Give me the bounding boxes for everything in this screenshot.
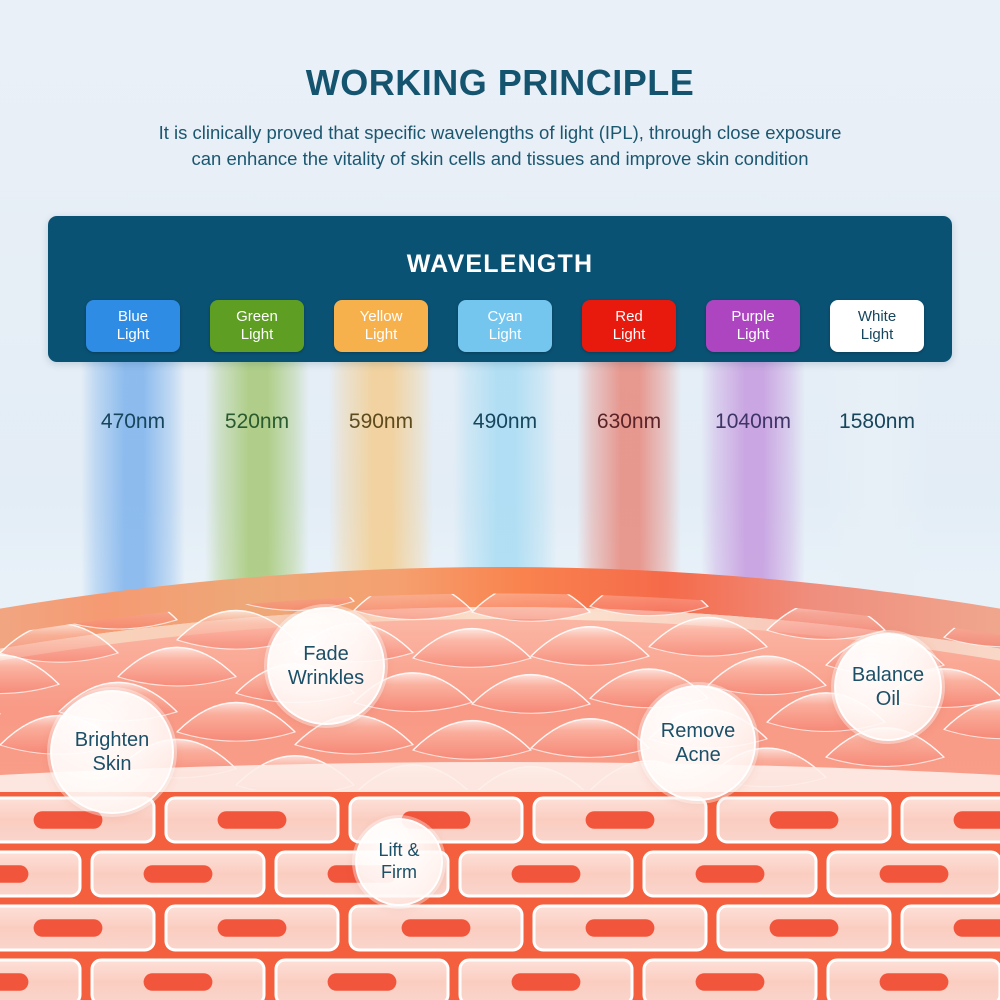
benefit-label-line-2: Acne <box>675 743 721 767</box>
light-chip-sublabel: Light <box>613 326 646 344</box>
light-chip-name: Cyan <box>487 308 522 326</box>
skin-cell-brick <box>534 906 706 950</box>
light-chip-name: Green <box>236 308 278 326</box>
cell-nucleus <box>218 919 287 937</box>
benefit-label-line-1: Lift & <box>378 840 419 862</box>
cell-nucleus <box>770 811 839 829</box>
cell-nucleus <box>34 919 103 937</box>
benefit-label-line-2: Skin <box>93 752 132 776</box>
light-chip-name: Red <box>615 308 643 326</box>
skin-cell-brick <box>0 852 80 896</box>
skin-cell-brick <box>166 906 338 950</box>
cell-nucleus <box>880 973 949 991</box>
wavelength-value-row: 470nm520nm590nm490nm630nm1040nm1580nm <box>0 410 1000 446</box>
skin-cell-brick <box>350 906 522 950</box>
benefit-label-line-1: Balance <box>852 663 924 687</box>
wavelength-value-red: 630nm <box>564 410 694 434</box>
wavelength-value-cyan: 490nm <box>440 410 570 434</box>
skin-cell-brick <box>902 906 1000 950</box>
light-chip-green[interactable]: GreenLight <box>210 300 304 352</box>
benefit-label-line-2: Wrinkles <box>288 666 364 690</box>
cell-nucleus <box>586 919 655 937</box>
skin-cell-brick <box>0 960 80 1000</box>
cell-nucleus <box>328 973 397 991</box>
skin-cell-brick <box>166 798 338 842</box>
subtitle-line-1: It is clinically proved that specific wa… <box>0 120 1000 146</box>
wavelength-value-green: 520nm <box>192 410 322 434</box>
light-chip-sublabel: Light <box>489 326 522 344</box>
cell-nucleus <box>0 865 28 883</box>
benefit-bubble-brighten: BrightenSkin <box>50 690 174 814</box>
skin-cell-brick <box>718 798 890 842</box>
page-title: WORKING PRINCIPLE <box>0 62 1000 104</box>
light-chip-sublabel: Light <box>241 326 274 344</box>
benefit-label-line-1: Fade <box>303 642 349 666</box>
benefit-label-line-1: Remove <box>661 719 735 743</box>
wavelength-value-white: 1580nm <box>812 410 942 434</box>
skin-cell-brick <box>644 852 816 896</box>
skin-cell-brick <box>460 852 632 896</box>
light-chip-white[interactable]: WhiteLight <box>830 300 924 352</box>
skin-cell-brick <box>644 960 816 1000</box>
skin-cell-brick <box>460 960 632 1000</box>
benefit-label-line-1: Brighten <box>75 728 150 752</box>
wavelength-value-blue: 470nm <box>68 410 198 434</box>
cell-nucleus <box>696 973 765 991</box>
light-chip-name: White <box>858 308 896 326</box>
benefit-label-line-2: Oil <box>876 687 900 711</box>
skin-cell-brick <box>92 852 264 896</box>
subtitle-line-2: can enhance the vitality of skin cells a… <box>0 146 1000 172</box>
light-chip-name: Purple <box>731 308 774 326</box>
light-chip-yellow[interactable]: YellowLight <box>334 300 428 352</box>
cell-nucleus <box>586 811 655 829</box>
light-chip-name: Blue <box>118 308 148 326</box>
page-subtitle: It is clinically proved that specific wa… <box>0 120 1000 173</box>
cell-nucleus <box>218 811 287 829</box>
skin-cell-brick <box>828 960 1000 1000</box>
benefit-bubble-lift: Lift &Firm <box>355 818 443 906</box>
skin-cell-brick <box>92 960 264 1000</box>
light-chip-sublabel: Light <box>365 326 398 344</box>
light-chip-purple[interactable]: PurpleLight <box>706 300 800 352</box>
light-chip-sublabel: Light <box>117 326 150 344</box>
cell-nucleus <box>512 973 581 991</box>
wavelength-value-yellow: 590nm <box>316 410 446 434</box>
light-chip-sublabel: Light <box>861 326 894 344</box>
cell-nucleus <box>144 865 213 883</box>
cell-nucleus <box>880 865 949 883</box>
light-chip-name: Yellow <box>360 308 403 326</box>
cell-nucleus <box>34 811 103 829</box>
skin-cell-brick <box>534 798 706 842</box>
skin-cell-brick <box>902 798 1000 842</box>
wavelength-panel: WAVELENGTH BlueLightGreenLightYellowLigh… <box>48 216 952 362</box>
cell-nucleus <box>512 865 581 883</box>
light-chip-cyan[interactable]: CyanLight <box>458 300 552 352</box>
cell-nucleus <box>770 919 839 937</box>
wavelength-value-purple: 1040nm <box>688 410 818 434</box>
benefit-label-line-2: Firm <box>381 862 417 884</box>
skin-cell-brick <box>0 906 154 950</box>
wavelength-panel-title: WAVELENGTH <box>48 250 952 279</box>
cell-nucleus <box>144 973 213 991</box>
skin-cell-brick <box>276 960 448 1000</box>
light-chip-red[interactable]: RedLight <box>582 300 676 352</box>
light-chip-blue[interactable]: BlueLight <box>86 300 180 352</box>
cell-nucleus <box>696 865 765 883</box>
cell-nucleus <box>402 919 471 937</box>
cell-nucleus <box>954 811 1000 829</box>
benefit-bubble-remove: RemoveAcne <box>640 685 756 801</box>
light-chip-sublabel: Light <box>737 326 770 344</box>
skin-cell-brick <box>718 906 890 950</box>
cell-nucleus <box>0 973 28 991</box>
benefit-bubble-fade: FadeWrinkles <box>267 607 385 725</box>
cell-nucleus <box>954 919 1000 937</box>
header: WORKING PRINCIPLE It is clinically prove… <box>0 0 1000 173</box>
light-chip-row: BlueLightGreenLightYellowLightCyanLightR… <box>48 300 952 354</box>
benefit-bubble-balance: BalanceOil <box>834 633 942 741</box>
infographic-canvas: WORKING PRINCIPLE It is clinically prove… <box>0 0 1000 1000</box>
skin-cell-brick <box>828 852 1000 896</box>
